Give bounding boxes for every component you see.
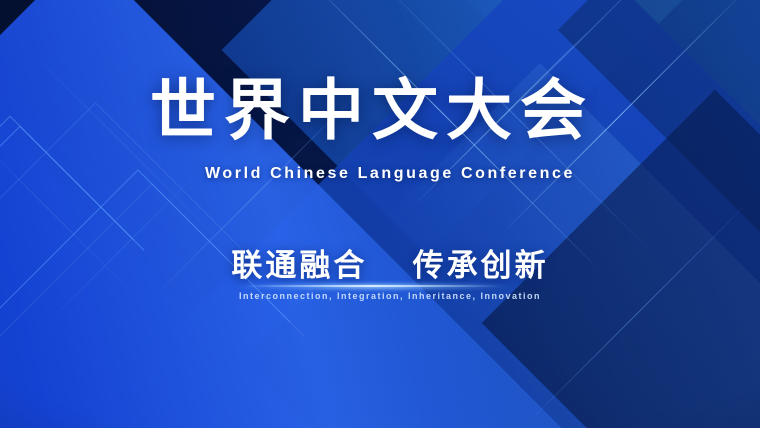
vignette-overlay (0, 0, 760, 428)
conference-poster: 世界中文大会 World Chinese Language Conference… (0, 0, 760, 428)
